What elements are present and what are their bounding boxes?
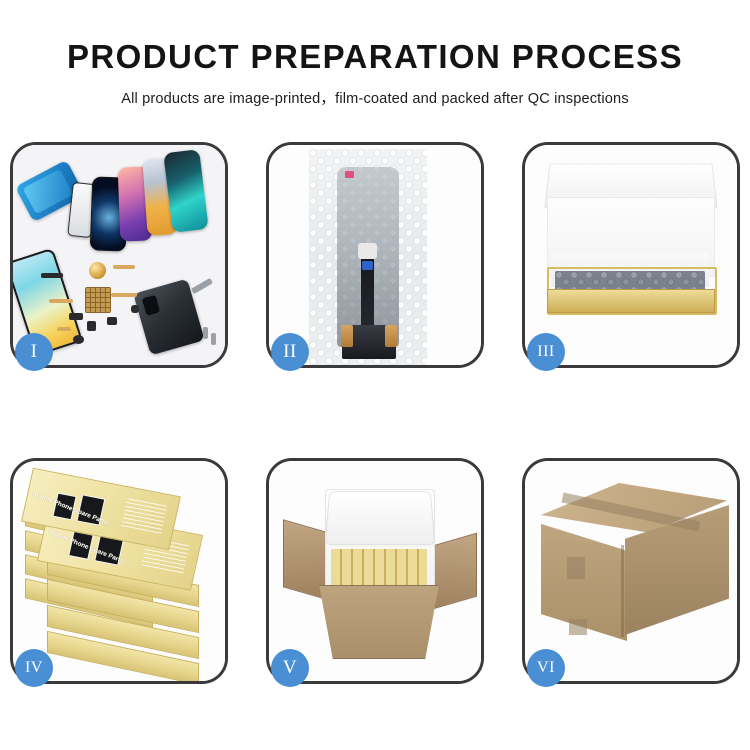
lcd-driver-chip xyxy=(362,261,373,270)
page-subtitle: All products are image-printed，film-coat… xyxy=(0,76,750,108)
step-image-4: Mobile Phone Spare Parts Mobile Phone Sp… xyxy=(13,461,225,681)
lcd-adhesive-left xyxy=(341,325,353,347)
speaker-coil-icon xyxy=(89,262,106,279)
sensor-icon xyxy=(131,305,139,313)
process-steps-grid: I II III xyxy=(10,142,740,687)
lcd-adhesive-right xyxy=(385,325,397,347)
carton-flap-notch-bottom xyxy=(569,619,587,635)
pink-qc-tab xyxy=(345,171,354,178)
carton-front-wall xyxy=(311,585,447,659)
step-badge-3: III xyxy=(527,333,565,371)
gold-tray-front xyxy=(547,289,715,313)
page-title: PRODUCT PREPARATION PROCESS xyxy=(0,0,750,76)
flex-cable-icon-1 xyxy=(113,265,135,269)
lcd-connector xyxy=(358,243,377,259)
gold-box-stack: Mobile Phone Spare Parts Mobile Phone Sp… xyxy=(13,461,225,681)
flex-cable-icon-2 xyxy=(111,293,137,297)
step-image-5 xyxy=(269,461,481,681)
step-panel-5[interactable]: V xyxy=(266,458,484,684)
step-badge-5: V xyxy=(271,649,309,687)
step-badge-1: I xyxy=(15,333,53,371)
flex-cable-icon-4 xyxy=(57,327,71,331)
step-panel-3[interactable]: III xyxy=(522,142,740,368)
screw-icon-1 xyxy=(203,327,208,339)
vibrator-icon xyxy=(107,317,117,325)
step-image-1 xyxy=(13,145,225,365)
camera-module-icon xyxy=(87,321,96,331)
step-image-2 xyxy=(269,145,481,365)
circuit-board-icon xyxy=(85,287,111,313)
earpiece-mesh-icon xyxy=(41,273,63,278)
step-image-6 xyxy=(525,461,737,681)
page-header: PRODUCT PREPARATION PROCESS All products… xyxy=(0,0,750,108)
small-chip-icon xyxy=(69,313,83,320)
gold-boxes-inside xyxy=(331,549,427,591)
carton-flap-notch-top xyxy=(567,557,585,579)
button-icon xyxy=(73,335,84,344)
box-text-lines-1 xyxy=(121,498,167,534)
carton-vertical-seam xyxy=(621,545,624,637)
bubble-wrap-bag xyxy=(309,149,427,365)
step-badge-6: VI xyxy=(527,649,565,687)
step-image-3 xyxy=(525,145,737,365)
step-panel-1[interactable]: I xyxy=(10,142,228,368)
step-badge-4: IV xyxy=(15,649,53,687)
flex-cable-icon-3 xyxy=(49,299,73,303)
foam-box-lid xyxy=(325,491,436,545)
step-panel-6[interactable]: VI xyxy=(522,458,740,684)
step-badge-2: II xyxy=(271,333,309,371)
step-panel-2[interactable]: II xyxy=(266,142,484,368)
screw-icon-2 xyxy=(211,333,216,345)
step-panel-4[interactable]: Mobile Phone Spare Parts Mobile Phone Sp… xyxy=(10,458,228,684)
